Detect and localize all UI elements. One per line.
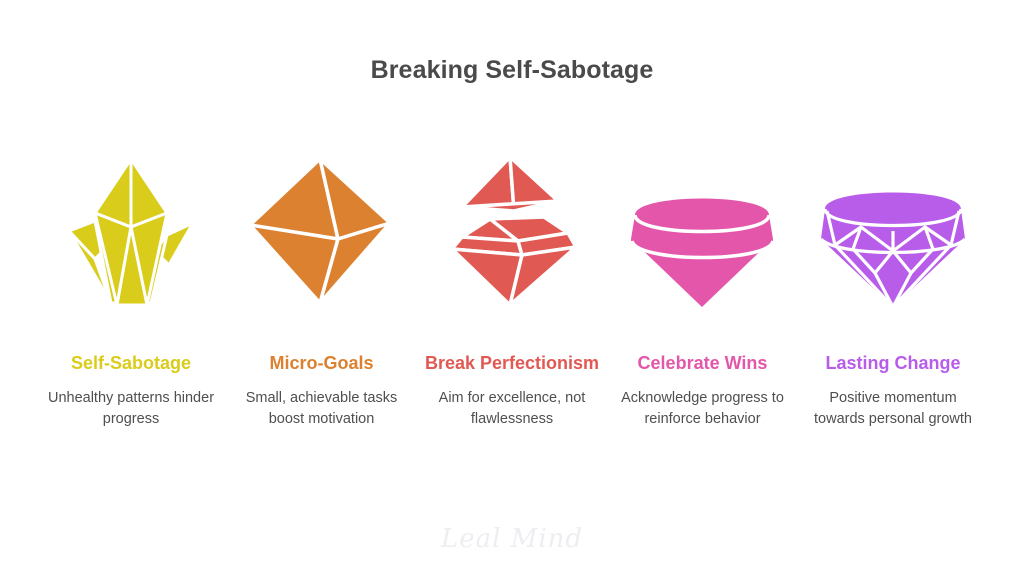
page-title: Breaking Self-Sabotage bbox=[0, 56, 1024, 85]
column-heading: Break Perfectionism bbox=[422, 352, 602, 375]
column-break-perfectionism[interactable]: Break Perfectionism Aim for excellence, … bbox=[417, 148, 607, 429]
column-lasting-change[interactable]: Lasting Change Positive momentum towards… bbox=[798, 148, 988, 429]
octahedron-gem-icon bbox=[237, 148, 407, 318]
column-celebrate-wins[interactable]: Celebrate Wins Acknowledge progress to r… bbox=[608, 148, 798, 429]
watermark-logo: Leal Mind bbox=[0, 524, 1024, 554]
column-list: Self-Sabotage Unhealthy patterns hinder … bbox=[36, 148, 988, 429]
faceted-diamond-icon bbox=[808, 148, 978, 318]
column-description: Aim for excellence, not flawlessness bbox=[422, 388, 602, 429]
column-heading: Micro-Goals bbox=[232, 352, 412, 375]
column-self-sabotage[interactable]: Self-Sabotage Unhealthy patterns hinder … bbox=[36, 148, 226, 429]
column-description: Unhealthy patterns hinder progress bbox=[41, 388, 221, 429]
round-brilliant-gem-icon bbox=[618, 148, 788, 318]
slide-canvas: Breaking Self-Sabotage bbox=[0, 0, 1024, 576]
column-heading: Lasting Change bbox=[803, 352, 983, 375]
column-heading: Self-Sabotage bbox=[41, 352, 221, 375]
column-description: Positive momentum towards personal growt… bbox=[803, 388, 983, 429]
broken-gem-icon bbox=[427, 148, 597, 318]
column-description: Small, achievable tasks boost motivation bbox=[232, 388, 412, 429]
column-micro-goals[interactable]: Micro-Goals Small, achievable tasks boos… bbox=[227, 148, 417, 429]
crystal-cluster-icon bbox=[46, 148, 216, 318]
column-description: Acknowledge progress to reinforce behavi… bbox=[613, 388, 793, 429]
column-heading: Celebrate Wins bbox=[613, 352, 793, 375]
